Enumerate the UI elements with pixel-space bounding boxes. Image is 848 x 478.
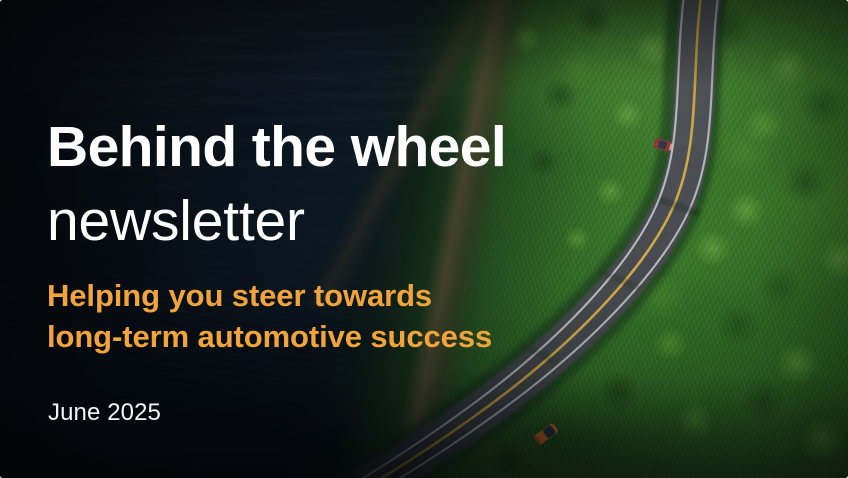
banner-subtitle: Helping you steer towards long-term auto… (47, 276, 492, 358)
banner-title-secondary: newsletter (47, 193, 305, 250)
banner-subtitle-line-1: Helping you steer towards (47, 276, 492, 317)
banner-title-primary: Behind the wheel (47, 119, 506, 176)
banner-subtitle-line-2: long-term automotive success (47, 317, 492, 358)
banner-issue-date: June 2025 (48, 401, 161, 425)
banner-content: Behind the wheel newsletter Helping you … (47, 0, 667, 478)
newsletter-banner: Behind the wheel newsletter Helping you … (0, 0, 848, 478)
